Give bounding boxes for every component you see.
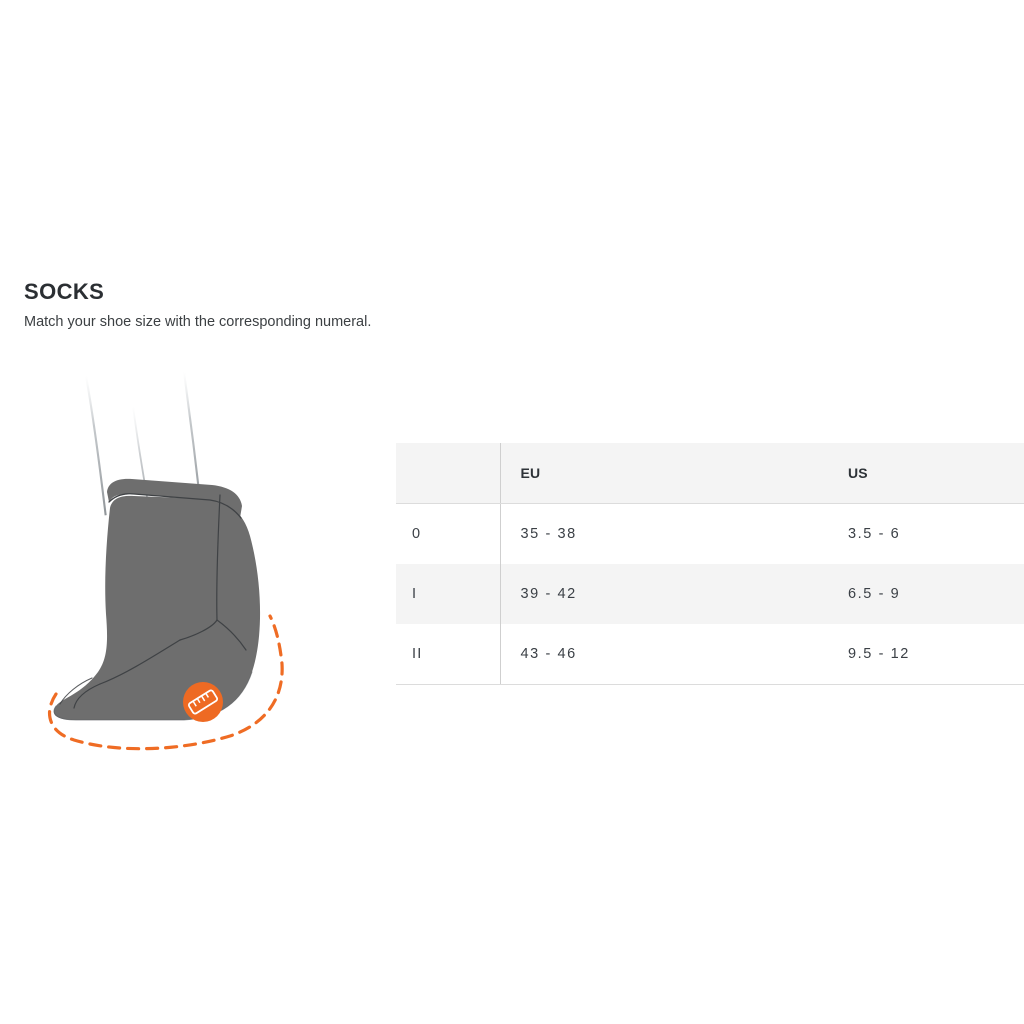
cell-us: 9.5 - 12 [824, 624, 1024, 685]
column-header-us: US [824, 443, 1024, 504]
table-row: II 43 - 46 9.5 - 12 [396, 624, 1024, 685]
size-table-container: EU US 0 35 - 38 3.5 - 6 I 39 - 42 6.5 - … [396, 443, 1024, 685]
cell-numeral: 0 [396, 504, 500, 565]
cell-us: 6.5 - 9 [824, 564, 1024, 624]
column-header-eu: EU [500, 443, 824, 504]
page-title: SOCKS [24, 278, 644, 306]
sock-illustration [34, 368, 334, 768]
ruler-badge [183, 682, 223, 722]
cell-eu: 35 - 38 [500, 504, 824, 565]
table-row: 0 35 - 38 3.5 - 6 [396, 504, 1024, 565]
cell-numeral: I [396, 564, 500, 624]
cell-eu: 39 - 42 [500, 564, 824, 624]
sock-body [54, 479, 260, 720]
cell-numeral: II [396, 624, 500, 685]
page-subtitle: Match your shoe size with the correspond… [24, 312, 644, 332]
table-header: EU US [396, 443, 1024, 504]
table-row: I 39 - 42 6.5 - 9 [396, 564, 1024, 624]
cell-eu: 43 - 46 [500, 624, 824, 685]
table-body: 0 35 - 38 3.5 - 6 I 39 - 42 6.5 - 9 II 4… [396, 504, 1024, 685]
cell-us: 3.5 - 6 [824, 504, 1024, 565]
column-header-numeral [396, 443, 500, 504]
heading-block: SOCKS Match your shoe size with the corr… [24, 278, 644, 332]
table-header-row: EU US [396, 443, 1024, 504]
socks-size-table: EU US 0 35 - 38 3.5 - 6 I 39 - 42 6.5 - … [396, 443, 1024, 685]
